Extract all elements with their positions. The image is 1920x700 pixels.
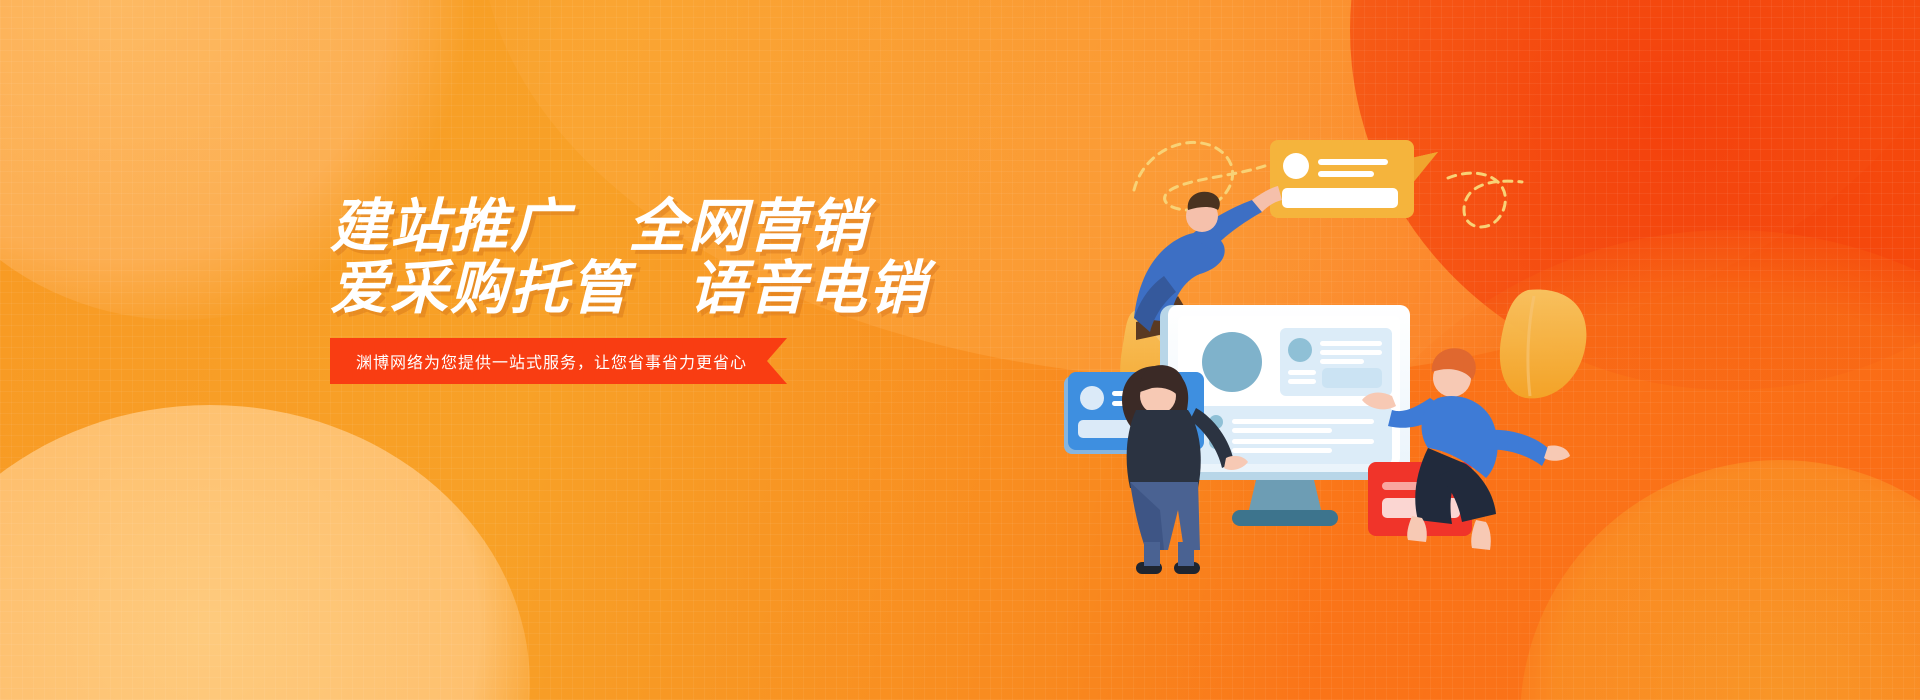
headline-line-1: 建站推广 全网营销 [330, 196, 890, 258]
tagline-ribbon-body: 渊博网络为您提供一站式服务，让您省事省力更省心 [330, 338, 787, 384]
team-working-illustration [1130, 110, 1590, 510]
hero-banner: 建站推广 全网营销 爱采购托管 语音电销 渊博网络为您提供一站式服务，让您省事省… [0, 0, 1920, 700]
headline-part-1a: 建站推广 [330, 194, 570, 259]
tagline-ribbon: 渊博网络为您提供一站式服务，让您省事省力更省心 [330, 338, 787, 384]
hero-copy: 建站推广 全网营销 爱采购托管 语音电销 渊博网络为您提供一站式服务，让您省事省… [330, 196, 890, 320]
headline-part-2a: 爱采购托管 [330, 256, 630, 321]
headline-part-1b: 全网营销 [628, 194, 868, 259]
leaf-right-icon [1500, 289, 1587, 398]
yellow-card [1270, 140, 1414, 218]
background-blob-bottom-left [0, 405, 530, 700]
headline-part-2b: 语音电销 [688, 256, 928, 321]
dashed-path-right [1448, 173, 1522, 227]
tagline-text: 渊博网络为您提供一站式服务，让您省事省力更省心 [356, 349, 747, 373]
headline-line-2: 爱采购托管 语音电销 [330, 258, 890, 320]
